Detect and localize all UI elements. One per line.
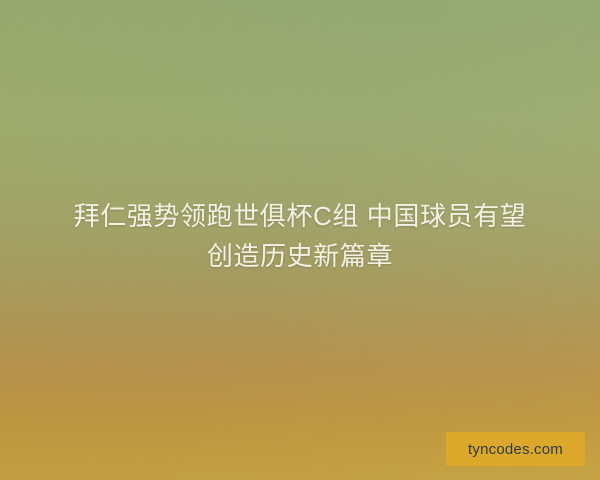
watermark-badge[interactable]: tyncodes.com (446, 432, 585, 466)
image-canvas: 拜仁强势领跑世俱杯C组 中国球员有望 创造历史新篇章 tyncodes.com (0, 0, 600, 480)
watermark-label: tyncodes.com (468, 441, 563, 458)
headline-text-block: 拜仁强势领跑世俱杯C组 中国球员有望 创造历史新篇章 (0, 196, 600, 276)
headline-line-2: 创造历史新篇章 (34, 236, 566, 276)
headline-line-1: 拜仁强势领跑世俱杯C组 中国球员有望 (34, 196, 566, 236)
